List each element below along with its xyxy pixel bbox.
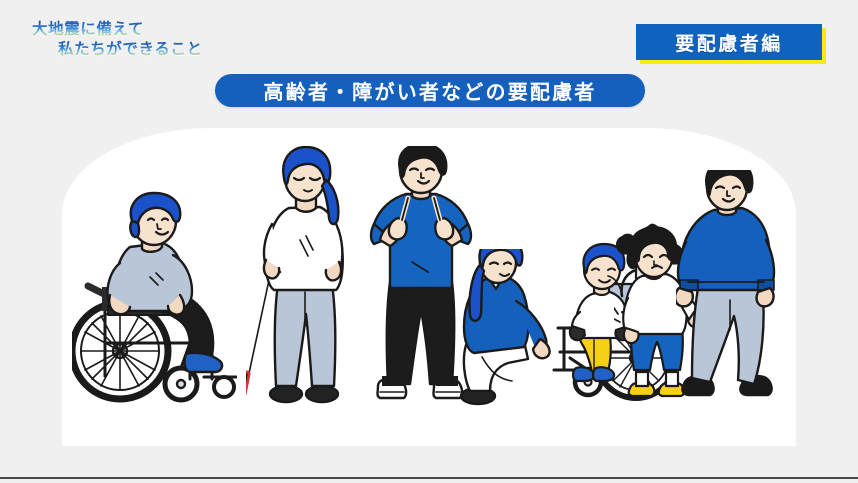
chapter-badge-label: 要配慮者編 [636,24,822,60]
slide-canvas: 大地震に備えて 私たちができること 要配慮者編 高齢者・障がい者などの要配慮者 [0,0,858,483]
figure-wheelchair-user [72,191,237,406]
series-title-line-2: 私たちができること [58,40,203,60]
illustration-figure-group [62,128,796,446]
figure-guardian-man [676,170,786,410]
page-title: 高齢者・障がい者などの要配慮者 [215,74,645,107]
figure-visually-impaired-woman [246,146,358,411]
chapter-badge: 要配慮者編 [636,24,822,60]
series-title-line-1: 大地震に備えて [32,20,203,40]
bottom-rule [0,477,858,479]
series-title: 大地震に備えて 私たちができること [32,20,203,60]
